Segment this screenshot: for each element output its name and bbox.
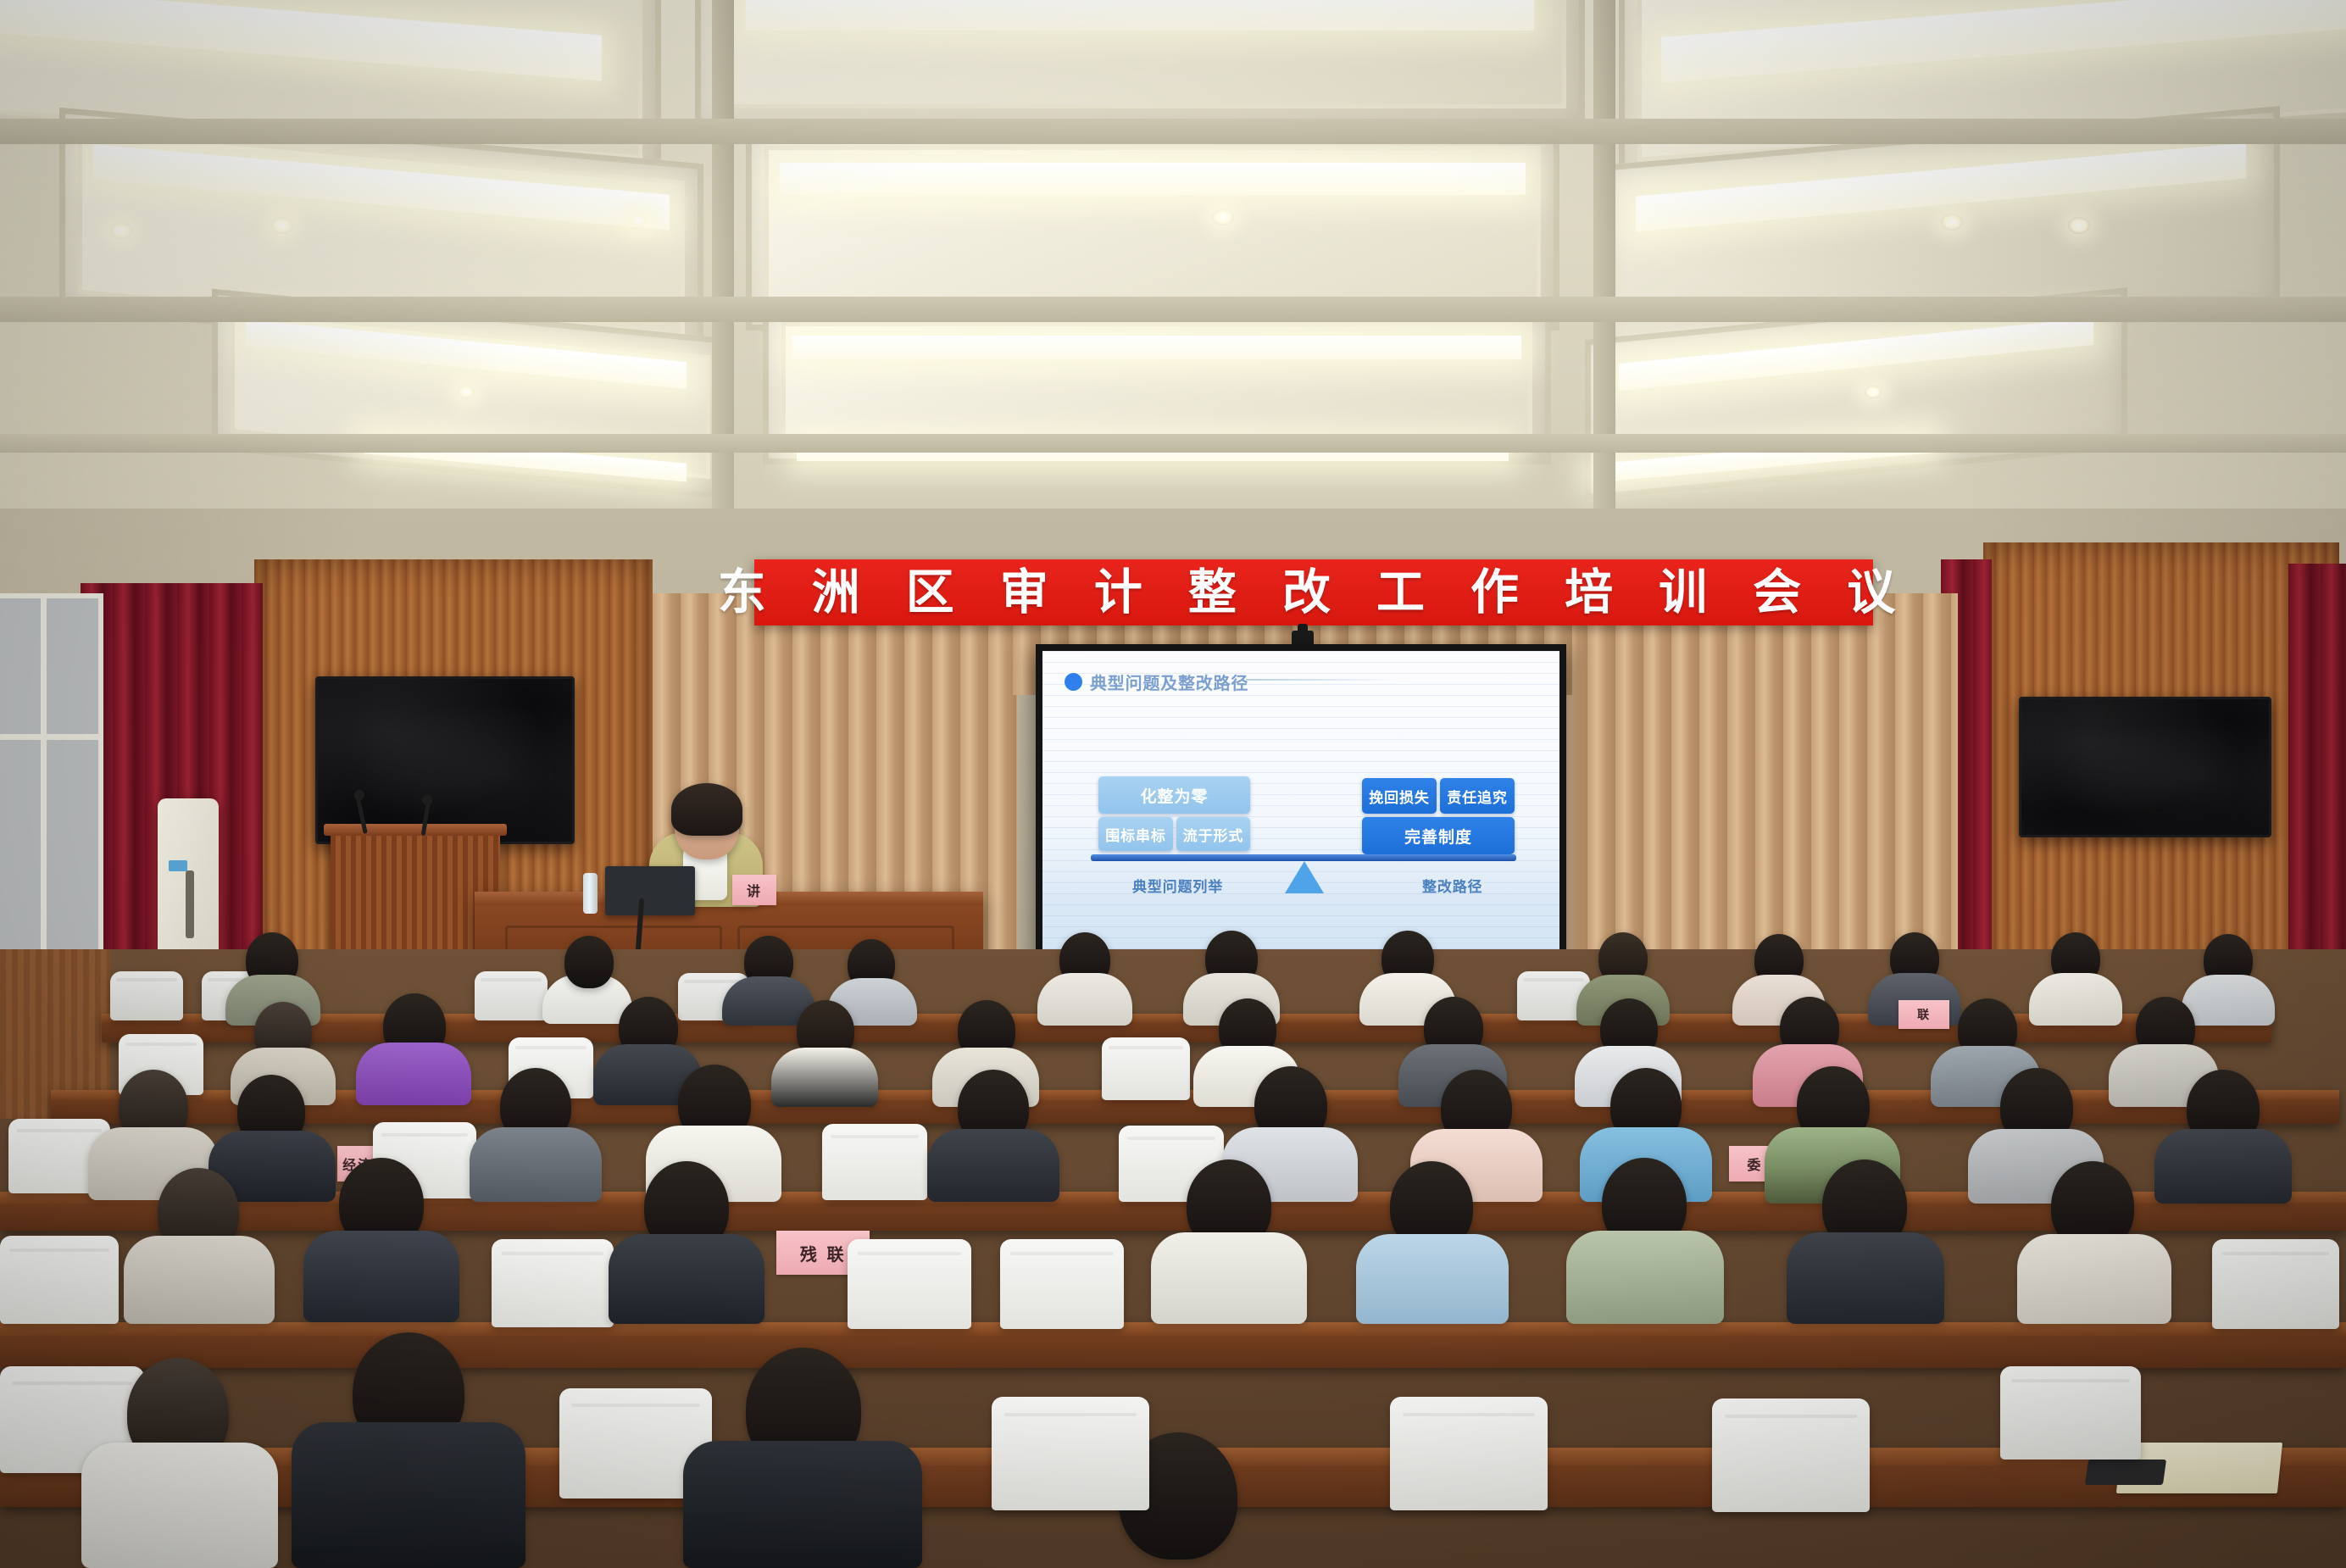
balance-fulcrum-icon [1285, 861, 1324, 893]
audience-chair [1712, 1398, 1870, 1512]
slide-title: 典型问题及整改路径 [1090, 670, 1248, 694]
attendee-torso [683, 1441, 922, 1568]
projector-arm [1298, 624, 1308, 634]
audience-chair [0, 1236, 119, 1324]
wall-tv-right [2019, 697, 2271, 837]
remedy-box-2-label: 责任追究 [1447, 786, 1507, 807]
attendee-torso [81, 1443, 278, 1568]
attendee-torso [1566, 1231, 1724, 1324]
audience-chair [492, 1239, 614, 1327]
projection-screen: 典型问题及整改路径 化整为零 围标串标 流于形式 挽回损失 责任追究 完善制度 [1036, 644, 1566, 981]
desk-row [0, 1322, 2346, 1368]
attendee-torso [2182, 975, 2275, 1026]
audience-chair [1000, 1239, 1124, 1329]
audience-chair [1390, 1397, 1548, 1510]
desk-name-card: 联 [1898, 1000, 1949, 1029]
window [0, 593, 103, 968]
coffered-ceiling [0, 0, 2346, 542]
lectern-mic-icon [354, 790, 364, 800]
audience-chair [475, 971, 548, 1020]
left-caption: 典型问题列举 [1132, 875, 1223, 896]
remedy-box-1-label: 挽回损失 [1369, 786, 1429, 807]
water-bottle [583, 873, 598, 914]
attendee-torso [1037, 973, 1132, 1026]
problem-box-1: 化整为零 [1098, 776, 1250, 814]
problem-box-3-label: 流于形式 [1183, 824, 1243, 845]
slide-title-rule [1246, 679, 1398, 681]
remedy-box-2: 责任追究 [1440, 778, 1515, 814]
problem-box-2: 围标串标 [1098, 817, 1173, 851]
right-caption: 整改路径 [1422, 875, 1482, 896]
attendee-torso [771, 1048, 878, 1107]
ceiling-beam [0, 434, 2346, 453]
attendee-torso [470, 1127, 602, 1202]
conference-banner: 东 洲 区 审 计 整 改 工 作 培 训 会 议 [754, 559, 1873, 626]
attendee-torso [1787, 1232, 1944, 1324]
audience-chair [848, 1239, 971, 1329]
ceiling-beam [0, 119, 2346, 144]
cove-light [780, 163, 1526, 195]
slide-header: 典型问题及整改路径 [1065, 670, 1248, 694]
ceiling-beam [0, 297, 2346, 322]
attendee-torso [124, 1236, 275, 1324]
cove-light [746, 0, 1534, 31]
balance-beam [1091, 854, 1516, 861]
bullet-dot-icon [1065, 673, 1082, 691]
downlight [1212, 209, 1234, 225]
conference-hall-photo: 东 洲 区 审 计 整 改 工 作 培 训 会 议 典型问题及整改路径 化整为零… [0, 0, 2346, 1568]
problem-box-1-label: 化整为零 [1141, 784, 1209, 807]
podium-name-card: 讲 [732, 875, 776, 905]
wall-tv-left [315, 676, 575, 844]
audience-chair [2212, 1239, 2339, 1329]
downlight [627, 212, 649, 229]
desk-name-card-label: 残 联 [800, 1241, 846, 1265]
attendee-torso [2017, 1234, 2171, 1324]
attendee-torso [927, 1129, 1059, 1202]
mobile-phone [2085, 1460, 2166, 1485]
downlight [2068, 217, 2090, 234]
downlight [110, 222, 132, 239]
downlight [1941, 214, 1963, 231]
attendee-torso [2154, 1129, 2292, 1204]
remedy-box-3-label: 完善制度 [1404, 825, 1472, 848]
problem-box-2-label: 围标串标 [1105, 824, 1165, 845]
remedy-box-3: 完善制度 [1362, 817, 1515, 854]
ceiling-beam [1593, 0, 1615, 509]
banner-title: 东 洲 区 审 计 整 改 工 作 培 训 会 议 [718, 569, 1910, 617]
audience-chair [2000, 1366, 2141, 1460]
ceiling-beam [712, 0, 734, 509]
attendee-torso [356, 1043, 471, 1105]
audience-chair [822, 1124, 927, 1200]
downlight [458, 386, 475, 398]
cove-light [792, 336, 1521, 359]
downlight [271, 217, 293, 234]
attendee-head [564, 936, 614, 988]
audience-chair [992, 1397, 1149, 1510]
speaker-hair [671, 783, 742, 836]
problem-box-3: 流于形式 [1176, 817, 1250, 851]
desk-name-card-label: 联 [1917, 1006, 1931, 1023]
attendee-torso [1356, 1234, 1509, 1324]
attendee-torso [609, 1234, 764, 1324]
audience-chair [1102, 1037, 1190, 1100]
attendee-torso [303, 1231, 459, 1322]
speaker-laptop [605, 866, 695, 915]
presentation-slide: 典型问题及整改路径 化整为零 围标串标 流于形式 挽回损失 责任追究 完善制度 [1042, 651, 1559, 975]
remedy-box-1: 挽回损失 [1362, 778, 1437, 814]
downlight [1865, 386, 1882, 398]
audience-chair [110, 971, 183, 1020]
attendee-torso [1151, 1232, 1307, 1324]
podium-name-card-label: 讲 [747, 880, 762, 900]
attendee-torso [2029, 973, 2122, 1026]
attendee-torso [292, 1422, 525, 1568]
lectern-mic-icon-2 [422, 795, 432, 805]
